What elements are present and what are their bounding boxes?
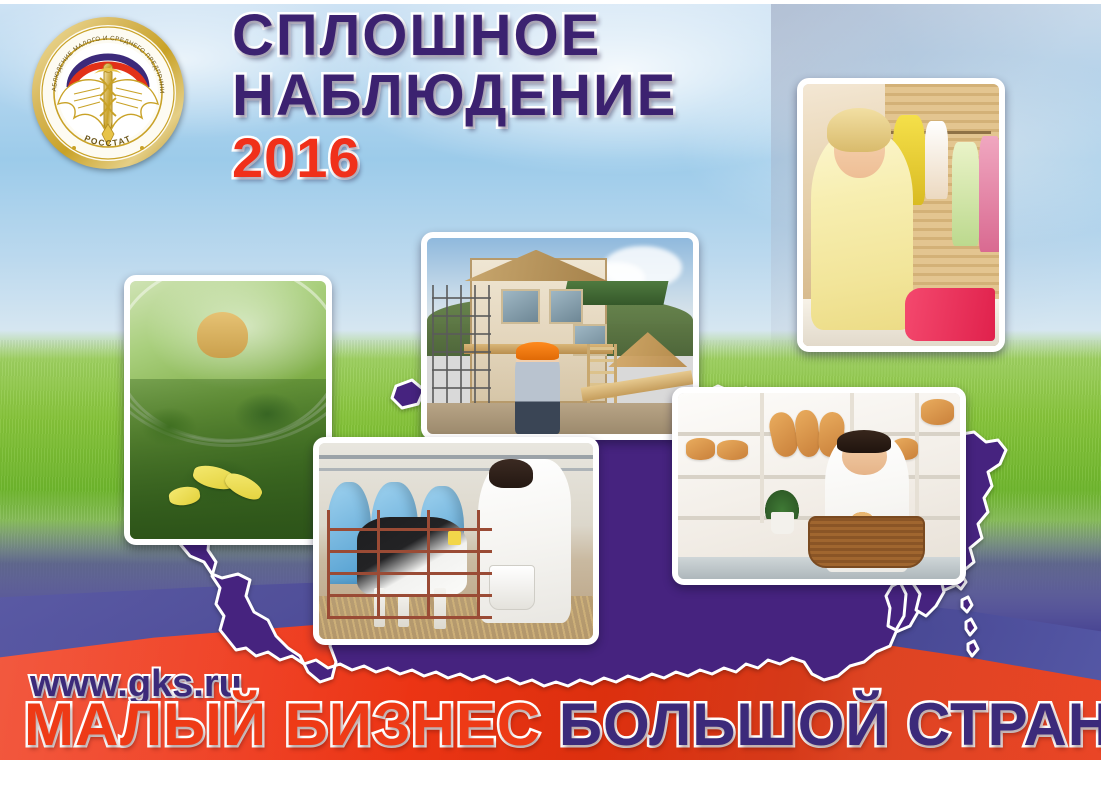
rosstat-emblem: СПЛОШНОЕ НАБЛЮДЕНИЕ МАЛОГО И СРЕДНЕГО ПР… bbox=[28, 12, 188, 174]
photo-bakery-owner bbox=[672, 387, 966, 585]
photo-dairy-vet bbox=[313, 437, 599, 645]
title-line-1: СПЛОШНОЕ bbox=[232, 8, 702, 64]
poster-title-block: СПЛОШНОЕ НАБЛЮДЕНИЕ 2016 bbox=[232, 8, 702, 190]
title-year: 2016 bbox=[232, 125, 702, 190]
slogan-part-1: МАЛЫЙ БИЗНЕС bbox=[24, 691, 559, 758]
title-line-2: НАБЛЮДЕНИЕ bbox=[232, 68, 702, 124]
photo-construction-worker bbox=[421, 232, 699, 440]
slogan-part-2: БОЛЬШОЙ СТРАНЫ bbox=[559, 691, 1101, 758]
photo-boutique-owner bbox=[797, 78, 1005, 352]
bottom-white-margin bbox=[0, 760, 1101, 800]
poster-canvas: СПЛОШНОЕ НАБЛЮДЕНИЕ МАЛОГО И СРЕДНЕГО ПР… bbox=[0, 0, 1101, 800]
poster-slogan: МАЛЫЙ БИЗНЕС БОЛЬШОЙ СТРАНЫ bbox=[24, 695, 1101, 755]
photo-greenhouse-farmer bbox=[124, 275, 332, 545]
